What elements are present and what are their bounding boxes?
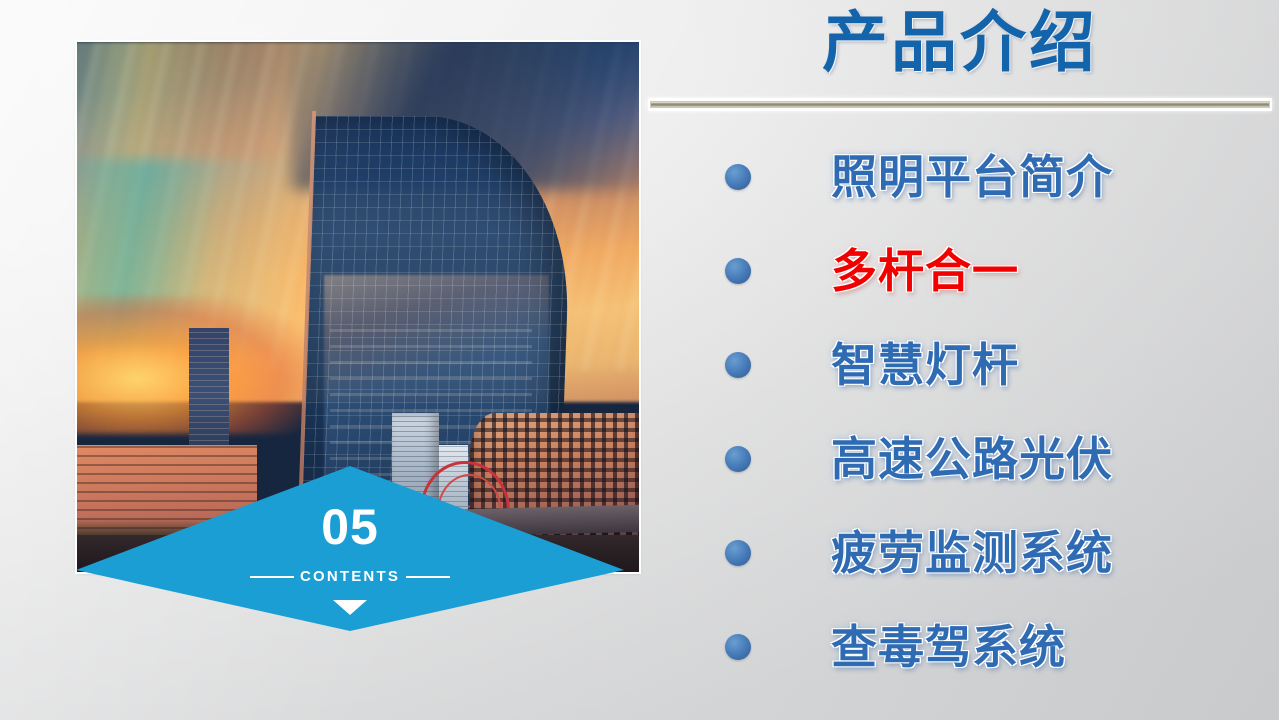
circle-bullet-icon [725, 352, 751, 378]
circle-bullet-icon [725, 164, 751, 190]
list-item[interactable]: 照明平台简介 [645, 130, 1279, 224]
cityscape-photo-frame [77, 42, 639, 572]
list-item-label: 智慧灯杆 [831, 342, 1019, 388]
list-item[interactable]: 查毒驾系统 [645, 600, 1279, 694]
ground-shadow [77, 535, 639, 572]
circle-bullet-icon [725, 258, 751, 284]
cityscape-photo [77, 42, 639, 572]
caret-down-icon [333, 600, 367, 615]
list-item[interactable]: 疲劳监测系统 [645, 506, 1279, 600]
bullet-list: 照明平台简介 多杆合一 智慧灯杆 高速公路光伏 疲劳监测系统 查毒驾系统 [645, 130, 1279, 694]
rule-left [250, 576, 294, 578]
circle-bullet-icon [725, 540, 751, 566]
rule-right [406, 576, 450, 578]
list-item-label: 查毒驾系统 [831, 624, 1066, 670]
circle-bullet-icon [725, 634, 751, 660]
presentation-slide: 05 CONTENTS 产品介绍 照明平台简介 多杆合一 智慧灯杆 高速公路光伏 [0, 0, 1279, 720]
title-divider [648, 98, 1272, 111]
list-item[interactable]: 多杆合一 [645, 224, 1279, 318]
list-item-label: 疲劳监测系统 [831, 530, 1113, 576]
list-item-label: 照明平台简介 [831, 154, 1113, 200]
circle-bullet-icon [725, 446, 751, 472]
list-item-label: 高速公路光伏 [831, 436, 1113, 482]
list-item[interactable]: 高速公路光伏 [645, 412, 1279, 506]
list-item[interactable]: 智慧灯杆 [645, 318, 1279, 412]
list-item-label: 多杆合一 [831, 248, 1019, 294]
page-title: 产品介绍 [645, 4, 1275, 82]
